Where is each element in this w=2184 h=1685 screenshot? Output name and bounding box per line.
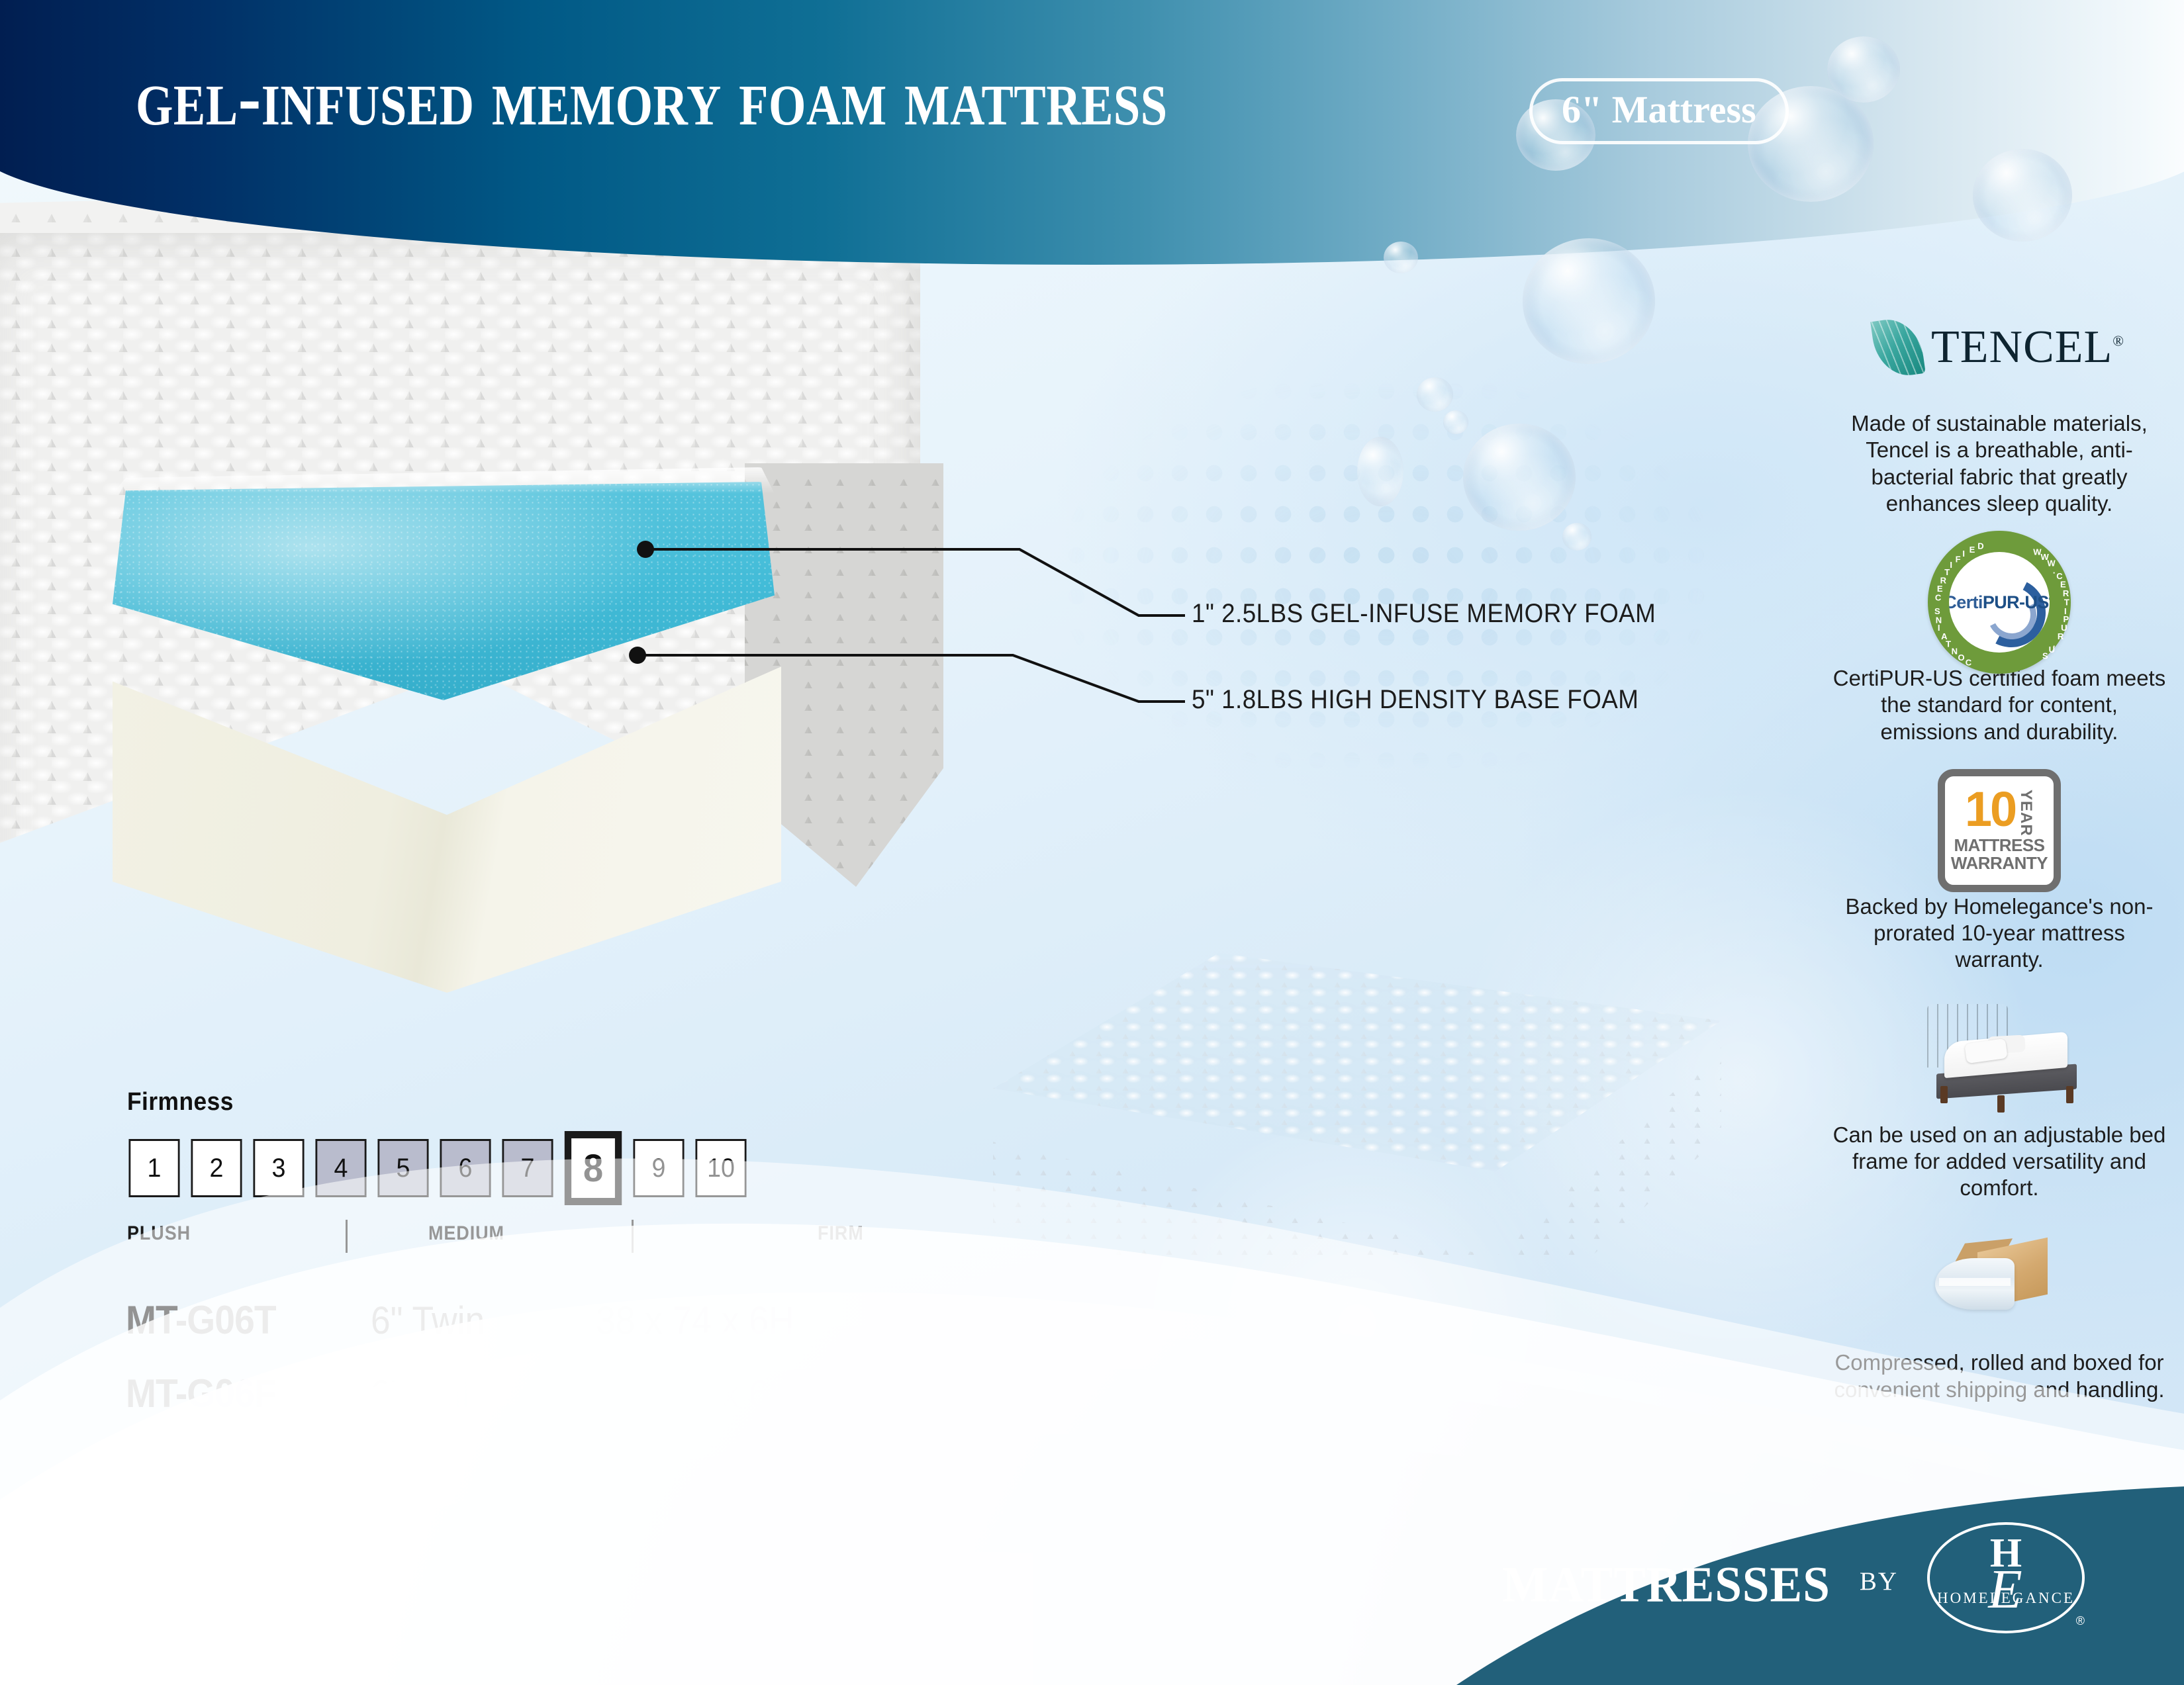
certipur-seal-icon: C O N T A I N S C E R T I F I bbox=[1827, 539, 2171, 665]
sku-code: MT-G06T bbox=[126, 1297, 351, 1343]
rolled-box-icon bbox=[1827, 1224, 2171, 1349]
feature-text-certipur: CertiPUR-US certified foam meets the sta… bbox=[1827, 665, 2171, 745]
rolled-mattress bbox=[1935, 1258, 2015, 1310]
firmness-scale: Firmness 1 2 3 4 5 6 7 8 9 10 PLUSH MEDI… bbox=[127, 1088, 895, 1253]
certipur-inner-disc: CertiPUR-US® bbox=[1949, 552, 2050, 653]
halftone-dot-pattern bbox=[1059, 371, 1721, 781]
bed-leg bbox=[1997, 1095, 2005, 1113]
tencel-wordmark: TENCEL® bbox=[1931, 321, 2124, 374]
sku-size: 6" Full bbox=[371, 1372, 578, 1416]
legend-medium: MEDIUM bbox=[428, 1222, 504, 1245]
brand-by: by bbox=[1860, 1557, 1898, 1599]
certipur-wordmark: CertiPUR-US® bbox=[1949, 592, 2050, 613]
firmness-legend: PLUSH MEDIUM FIRM bbox=[127, 1222, 895, 1253]
sku-dimensions: 53 x 74 x 6H bbox=[596, 1372, 794, 1416]
table-row: MT-G06F 6" Full 53 x 74 x 6H bbox=[126, 1371, 812, 1416]
warranty-number: 10 bbox=[1965, 788, 2015, 831]
feature-adjustable-base: Can be used on an adjustable bed frame f… bbox=[1827, 996, 2171, 1202]
bed-leg bbox=[2066, 1086, 2073, 1103]
callout-label-gel: 1" 2.5LBS GEL-INFUSE MEMORY FOAM bbox=[1192, 599, 1656, 629]
registered-mark: ® bbox=[2076, 1614, 2085, 1628]
warranty-badge-icon: 10 YEAR MATTRESS WARRANTY bbox=[1827, 768, 2171, 893]
feature-text-boxed: Compressed, rolled and boxed for conveni… bbox=[1827, 1349, 2171, 1403]
firmness-cell-1[interactable]: 1 bbox=[128, 1139, 179, 1197]
firmness-cell-3[interactable]: 3 bbox=[253, 1139, 304, 1197]
feature-tencel: TENCEL® Made of sustainable materials, T… bbox=[1827, 285, 2171, 517]
brand-mattresses: Mattresses bbox=[1502, 1542, 1830, 1614]
legend-firm: FIRM bbox=[818, 1222, 864, 1245]
firmness-cells: 1 2 3 4 5 6 7 8 9 10 bbox=[127, 1131, 895, 1205]
adjustable-bed-icon bbox=[1827, 996, 2171, 1122]
firmness-cell-4[interactable]: 4 bbox=[315, 1139, 366, 1197]
sku-table: MT-G06T 6" Twin 38 x 74 x 6H MT-G06F 6" … bbox=[126, 1297, 812, 1444]
product-top-face bbox=[993, 953, 1721, 1171]
firmness-cell-9[interactable]: 9 bbox=[633, 1139, 684, 1197]
firmness-cell-10[interactable]: 10 bbox=[695, 1139, 746, 1197]
product-spec-sheet: Gel-Infused Memory Foam Mattress 6" Matt… bbox=[0, 0, 2184, 1685]
firmness-cell-5[interactable]: 5 bbox=[377, 1139, 428, 1197]
sku-dimensions: 38 x 74 x 6H bbox=[596, 1298, 794, 1343]
legend-tick-right bbox=[632, 1220, 634, 1253]
firmness-cell-7[interactable]: 7 bbox=[502, 1139, 553, 1197]
cutaway-gel-texture bbox=[113, 482, 775, 700]
table-row: MT-G06T 6" Twin 38 x 74 x 6H bbox=[126, 1297, 812, 1343]
feature-certipur: C O N T A I N S C E R T I F I bbox=[1827, 539, 2171, 745]
bed-leg bbox=[1940, 1086, 1948, 1103]
cutaway-edge-highlight bbox=[113, 467, 775, 494]
warranty-line2: WARRANTY bbox=[1951, 854, 2048, 872]
firmness-cell-6[interactable]: 6 bbox=[440, 1139, 491, 1197]
firmness-cell-8-selected[interactable]: 8 bbox=[565, 1131, 622, 1205]
page-title: Gel-Infused Memory Foam Mattress bbox=[136, 56, 1168, 138]
sku-code: MT-G06F bbox=[126, 1371, 351, 1416]
leaf-icon bbox=[1870, 315, 1926, 379]
firmness-label: Firmness bbox=[127, 1088, 841, 1116]
mattress-cutaway-diagram bbox=[113, 463, 993, 993]
callout-label-base: 5" 1.8LBS HIGH DENSITY BASE FOAM bbox=[1192, 685, 1638, 715]
logo-wordmark: HOMELEGANCE bbox=[1930, 1590, 2082, 1607]
feature-text-adjustable: Can be used on an adjustable bed frame f… bbox=[1827, 1122, 2171, 1202]
legend-plush: PLUSH bbox=[127, 1222, 191, 1245]
firmness-cell-2[interactable]: 2 bbox=[191, 1139, 242, 1197]
feature-text-tencel: Made of sustainable materials, Tencel is… bbox=[1827, 410, 2171, 517]
feature-warranty: 10 YEAR MATTRESS WARRANTY Backed by Home… bbox=[1827, 768, 2171, 974]
homelegance-logo: H E HOMELEGANCE ® bbox=[1927, 1522, 2085, 1633]
product-photo bbox=[993, 953, 1774, 1310]
size-badge: 6" Mattress bbox=[1529, 78, 1789, 144]
registered-mark: ® bbox=[2113, 333, 2124, 349]
warranty-line1: MATTRESS bbox=[1954, 837, 2044, 854]
footer-branding: Mattresses by H E HOMELEGANCE ® bbox=[1502, 1522, 2085, 1633]
feature-list: TENCEL® Made of sustainable materials, T… bbox=[1827, 285, 2171, 1426]
warranty-year-label: YEAR bbox=[2018, 790, 2034, 837]
feature-boxed: Compressed, rolled and boxed for conveni… bbox=[1827, 1224, 2171, 1403]
sku-size: 6" Twin bbox=[371, 1298, 578, 1343]
feature-text-warranty: Backed by Homelegance's non-prorated 10-… bbox=[1827, 893, 2171, 974]
tencel-logo: TENCEL® bbox=[1827, 285, 2171, 410]
legend-tick-left bbox=[346, 1220, 348, 1253]
